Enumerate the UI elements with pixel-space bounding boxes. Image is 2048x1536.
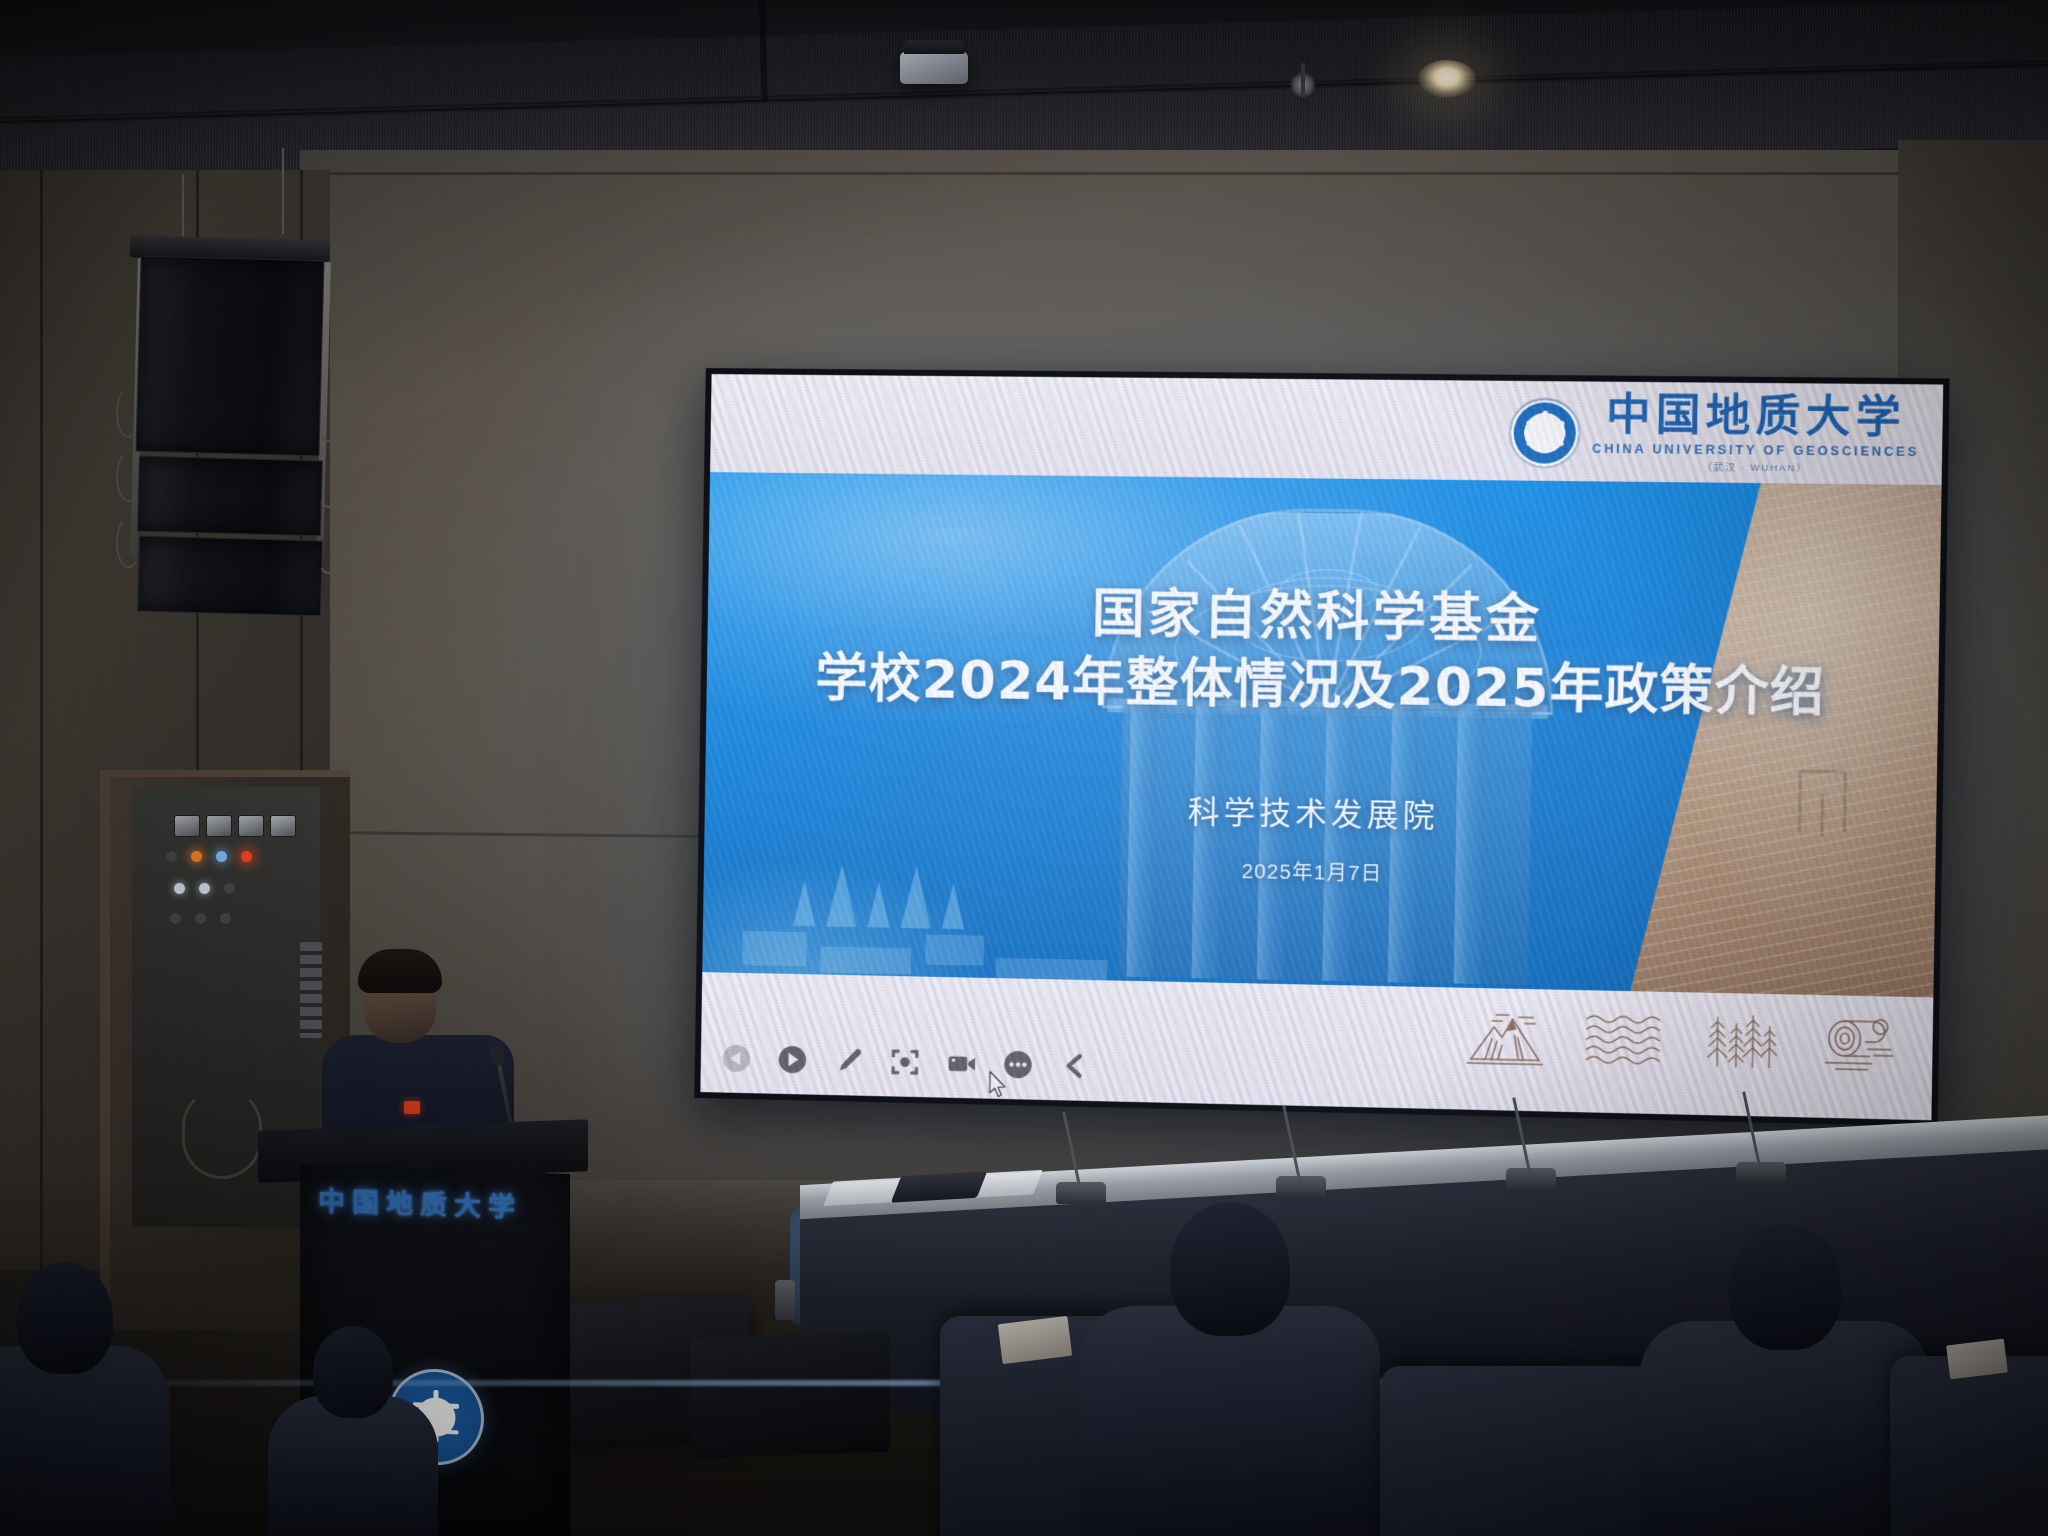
audience-head: [17, 1262, 113, 1374]
indicator-light: [166, 851, 177, 862]
mountain-icon: [1467, 1004, 1544, 1069]
slide-header-band: 中国地质大学 CHINA UNIVERSITY OF GEOSCIENCES （…: [710, 374, 1943, 485]
indicator-light: [174, 883, 185, 894]
audience-member: [268, 1336, 438, 1536]
emblem-ring: [1509, 398, 1580, 468]
indicator-light-row: [174, 883, 235, 894]
indicator-light: [170, 913, 181, 924]
audience-shoulders: [0, 1346, 170, 1536]
speaker-cabinet: [137, 456, 323, 537]
indicator-light-row: [166, 851, 252, 862]
panel-gauge: [270, 815, 296, 837]
audience-member: [0, 1236, 170, 1536]
indicator-light: [199, 883, 210, 894]
logo-name-cn: 中国地质大学: [1606, 394, 1907, 441]
audience-seat: [1890, 1356, 2048, 1536]
video-camera-icon[interactable]: [943, 1045, 978, 1080]
waves-icon: [1584, 1007, 1662, 1072]
mouse-cursor: [988, 1070, 1009, 1099]
next-slide-button[interactable]: [775, 1042, 810, 1077]
indicator-light: [224, 883, 235, 894]
indicator-light: [191, 851, 202, 862]
audience-shoulders: [1080, 1306, 1380, 1536]
wall-seam: [300, 172, 2048, 175]
focus-frame-icon[interactable]: [887, 1044, 922, 1079]
logo-name-en: CHINA UNIVERSITY OF GEOSCIENCES: [1592, 442, 1919, 460]
audience-member: [1080, 1206, 1380, 1536]
indicator-light: [216, 851, 227, 862]
cug-emblem-icon: [1508, 397, 1581, 469]
audience-foreground: [0, 1116, 2048, 1536]
indicator-light-row: [170, 913, 231, 924]
ceiling-projector: [900, 52, 968, 84]
gauge-row: [174, 815, 296, 837]
audience-member: [1640, 1236, 1930, 1536]
projection-screen: 中国地质大学 CHINA UNIVERSITY OF GEOSCIENCES （…: [694, 368, 1949, 1127]
ceiling-downlight: [1418, 60, 1476, 98]
audience-head: [313, 1326, 393, 1418]
audience-head: [1170, 1202, 1290, 1336]
pen-icon[interactable]: [831, 1043, 866, 1078]
panel-gauge: [206, 815, 232, 837]
wall-panel-edge: [40, 170, 43, 1270]
slide-hero-image: [702, 472, 1942, 1010]
university-logo: 中国地质大学 CHINA UNIVERSITY OF GEOSCIENCES （…: [1508, 393, 1920, 475]
panel-gauge: [174, 815, 200, 837]
presentation-slide: 中国地质大学 CHINA UNIVERSITY OF GEOSCIENCES （…: [700, 374, 1943, 1120]
speaker-cabinet: [135, 256, 324, 457]
rock-core-icon: [1821, 1011, 1899, 1076]
panel-gauge: [238, 815, 264, 837]
audience-handout: [998, 1316, 1072, 1364]
ground-block: [996, 958, 1108, 980]
line-array-speaker: [130, 200, 330, 700]
audience-shoulders: [1640, 1321, 1930, 1536]
indicator-light: [220, 913, 231, 924]
ground-block: [820, 946, 911, 974]
chevron-left-icon[interactable]: [1057, 1048, 1092, 1083]
logo-text-block: 中国地质大学 CHINA UNIVERSITY OF GEOSCIENCES （…: [1592, 394, 1920, 476]
sandy-terrain-wedge: [1599, 472, 1941, 1010]
logo-campus: （武汉 · WUHAN）: [1702, 459, 1808, 474]
presenter-hair: [358, 949, 442, 993]
campus-ground-structures: [742, 865, 1127, 983]
indicator-light: [195, 913, 206, 924]
lapel-pin: [404, 1101, 420, 1114]
fire-sprinkler: [1290, 72, 1316, 98]
ground-block: [925, 934, 984, 965]
speaker-suspension-wire: [282, 148, 284, 234]
decorative-icon-row: [1467, 1004, 1900, 1077]
audience-head: [1729, 1224, 1841, 1350]
conference-hall-photo: 中国地质大学 CHINA UNIVERSITY OF GEOSCIENCES （…: [0, 0, 2048, 1536]
speaker-cabinet: [137, 536, 323, 617]
previous-slide-button[interactable]: [719, 1040, 754, 1075]
ground-block: [742, 931, 807, 966]
forest-icon: [1702, 1009, 1780, 1074]
slide-title-block: 国家自然科学基金 学校2024年整体情况及2025年政策介绍: [706, 579, 1939, 729]
indicator-light: [241, 851, 252, 862]
audience-handout: [1946, 1339, 2008, 1380]
speaker-suspension-wire: [182, 174, 184, 236]
